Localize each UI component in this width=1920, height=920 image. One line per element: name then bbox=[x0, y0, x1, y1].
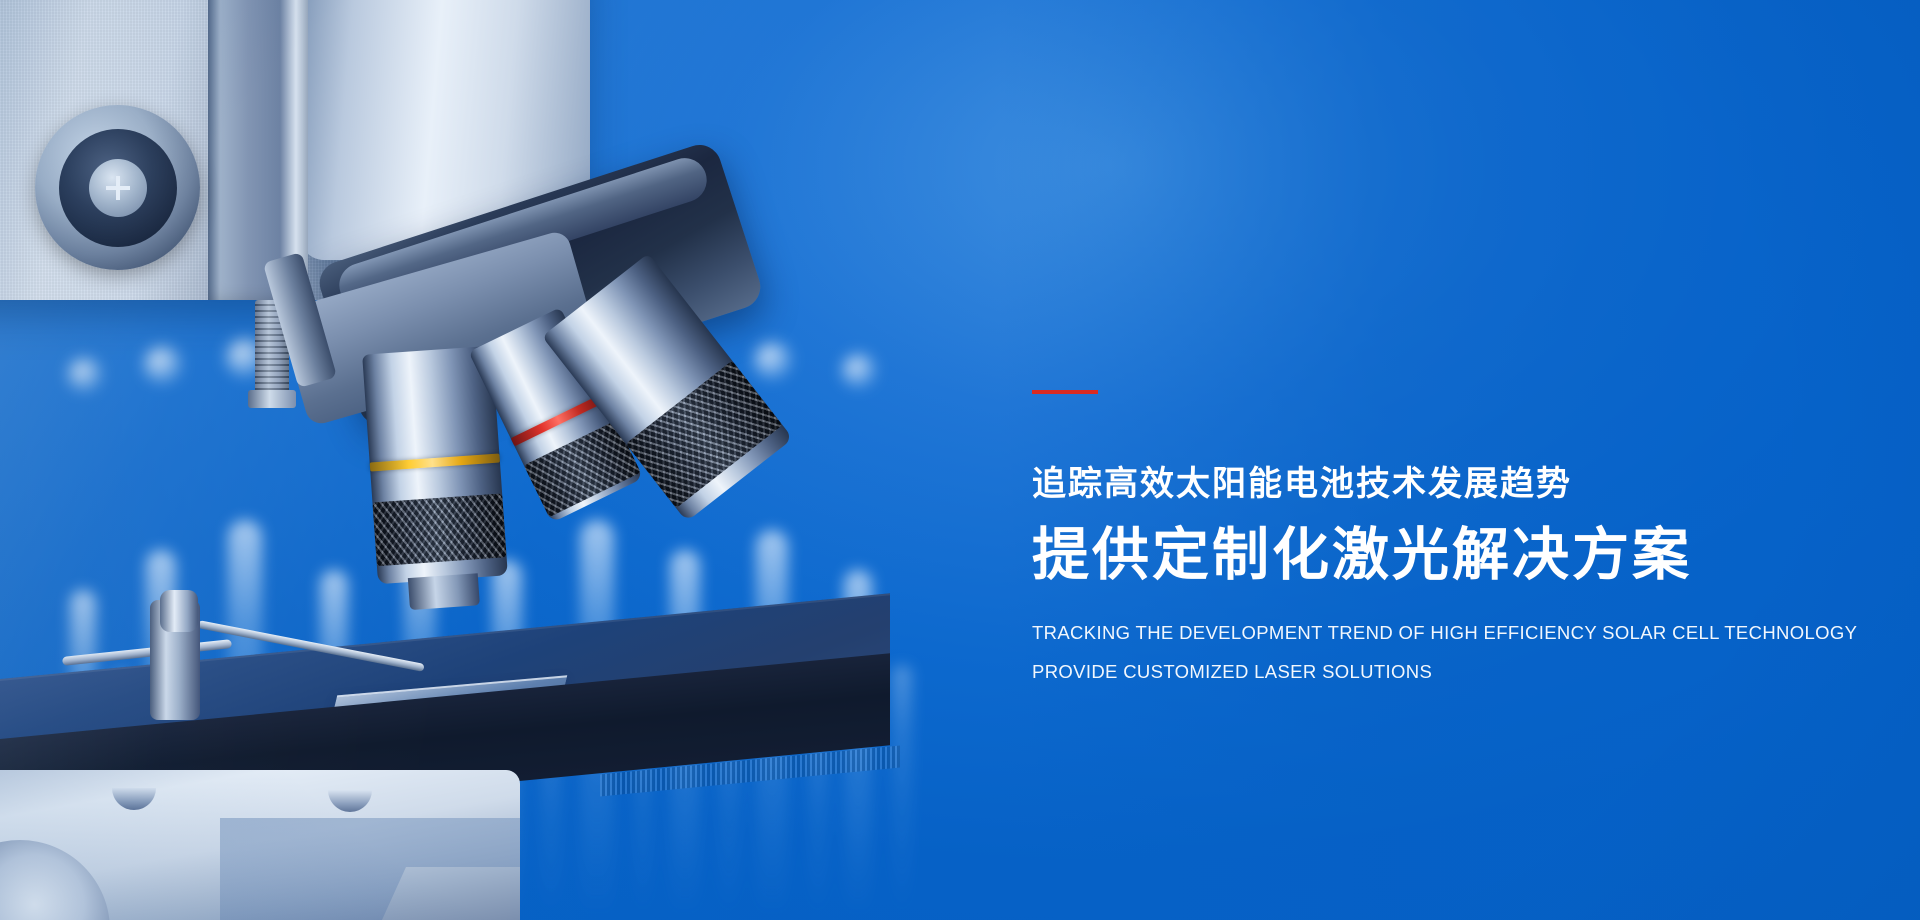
page-title: 提供定制化激光解决方案 bbox=[1032, 521, 1852, 591]
hero-copy: 追踪高效太阳能电池技术发展趋势 提供定制化激光解决方案 TRACKING THE… bbox=[1032, 390, 1852, 681]
hero-banner: 追踪高效太阳能电池技术发展趋势 提供定制化激光解决方案 TRACKING THE… bbox=[0, 0, 1920, 920]
english-subtitle-line-1: TRACKING THE DEVELOPMENT TREND OF HIGH E… bbox=[1032, 624, 1852, 643]
english-subtitle-line-2: PROVIDE CUSTOMIZED LASER SOLUTIONS bbox=[1032, 663, 1852, 682]
accent-rule bbox=[1032, 390, 1098, 394]
headline-secondary: 追踪高效太阳能电池技术发展趋势 bbox=[1032, 464, 1852, 505]
